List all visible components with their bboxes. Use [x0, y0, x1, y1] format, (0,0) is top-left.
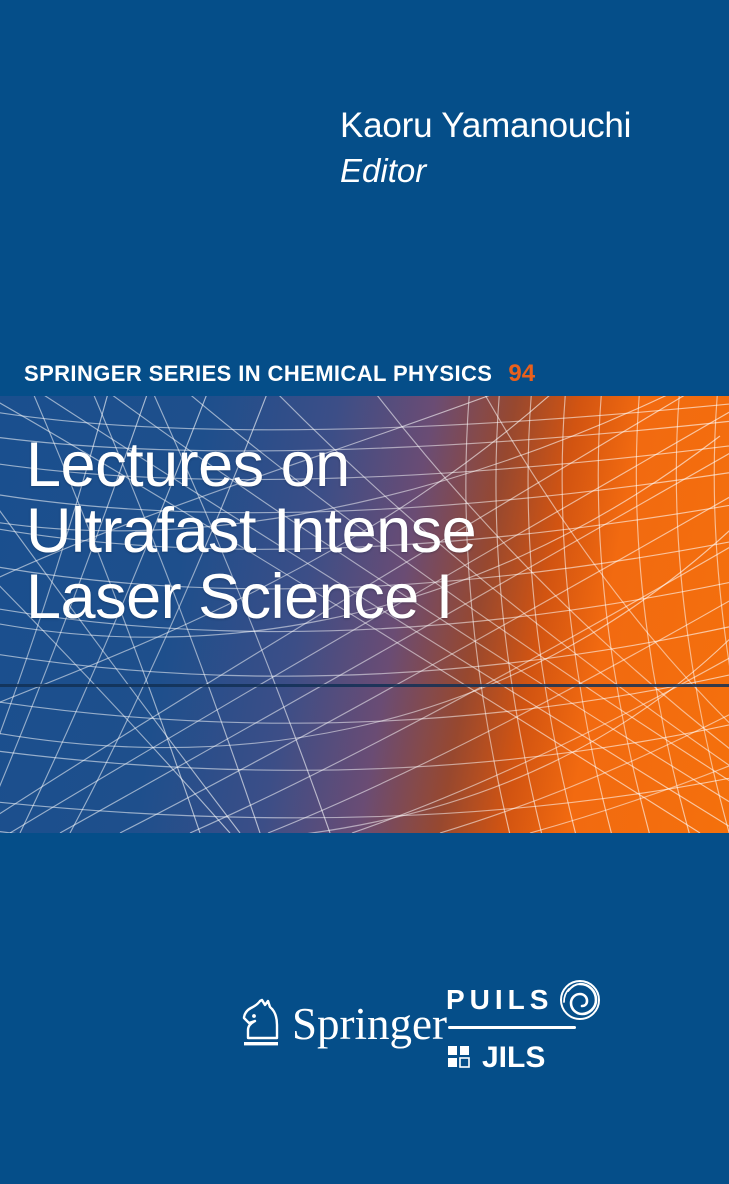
book-title-line-1: Lectures on [26, 432, 666, 498]
chess-knight-icon [236, 996, 282, 1052]
puils-wordmark: PUILS [446, 986, 553, 1014]
series-title: SPRINGER SERIES IN CHEMICAL PHYSICS [24, 361, 492, 387]
series-line: SPRINGER SERIES IN CHEMICAL PHYSICS 94 [24, 360, 535, 388]
square-dots-icon [448, 1045, 474, 1071]
book-cover: Kaoru Yamanouchi Editor SPRINGER SERIES … [0, 0, 729, 1184]
puils-row: PUILS [446, 978, 616, 1022]
book-title: Lectures on Ultrafast Intense Laser Scie… [26, 432, 666, 630]
book-title-line-2: Ultrafast Intense [26, 498, 666, 564]
editor-credit: Kaoru Yamanouchi Editor [340, 106, 710, 192]
springer-logo: Springer [236, 996, 447, 1052]
jils-logo: JILS [448, 1043, 616, 1073]
book-title-line-3: Laser Science I [26, 564, 666, 630]
editor-role: Editor [340, 150, 710, 192]
puils-logo: PUILS JILS [446, 978, 616, 1073]
springer-wordmark: Springer [292, 1002, 447, 1047]
logo-row: Springer PUILS [0, 978, 729, 1103]
series-volume-number: 94 [508, 360, 535, 388]
puils-underline [448, 1026, 576, 1029]
jils-wordmark: JILS [482, 1043, 545, 1073]
spiral-vortex-icon [559, 979, 601, 1021]
title-divider-rule [0, 684, 729, 687]
editor-name: Kaoru Yamanouchi [340, 106, 710, 146]
